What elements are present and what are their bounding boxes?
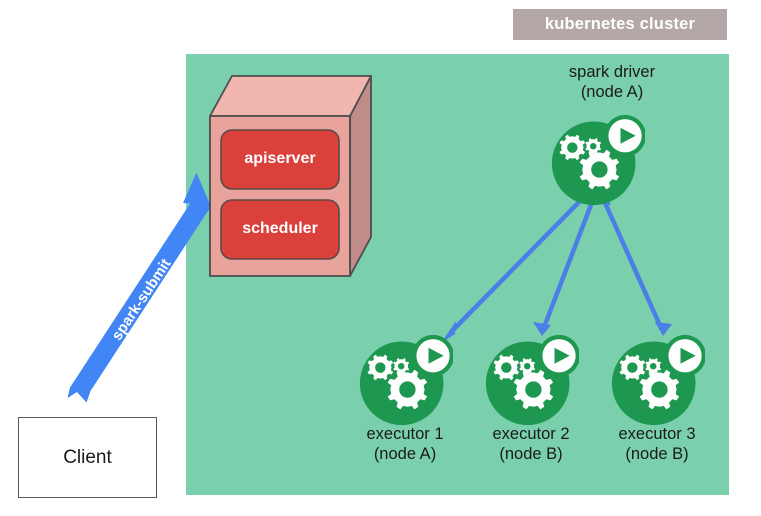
spark-driver-node: (node A): [522, 82, 702, 102]
executor-2-node-icon: [486, 335, 580, 425]
executor-3-node-icon: [612, 335, 706, 425]
spark-driver-name: spark driver: [522, 62, 702, 82]
spark-submit-arrow: spark-submit: [68, 173, 215, 403]
apiserver-label: apiserver: [221, 150, 339, 168]
executor-1-node: (node A): [340, 444, 470, 464]
arrow-driver-executor-3: [593, 190, 672, 336]
spark-driver-label: spark driver (node A): [522, 62, 702, 102]
executor-3-label: executor 3 (node B): [592, 424, 722, 464]
executor-1-label: executor 1 (node A): [340, 424, 470, 464]
executor-3-node: (node B): [592, 444, 722, 464]
spark-submit-label: spark-submit: [108, 256, 174, 344]
executor-1-name: executor 1: [340, 424, 470, 444]
executor-3-name: executor 3: [592, 424, 722, 444]
executor-1-node-icon: [360, 335, 454, 425]
executor-2-node: (node B): [466, 444, 596, 464]
scheduler-label: scheduler: [221, 220, 339, 238]
driver-executor-arrows: [441, 190, 672, 343]
executor-2-label: executor 2 (node B): [466, 424, 596, 464]
executor-2-name: executor 2: [466, 424, 596, 444]
spark-driver-node-icon: [552, 115, 646, 205]
diagram-canvas: kubernetes cluster Client: [0, 0, 761, 516]
arrow-driver-executor-1: [441, 190, 599, 343]
